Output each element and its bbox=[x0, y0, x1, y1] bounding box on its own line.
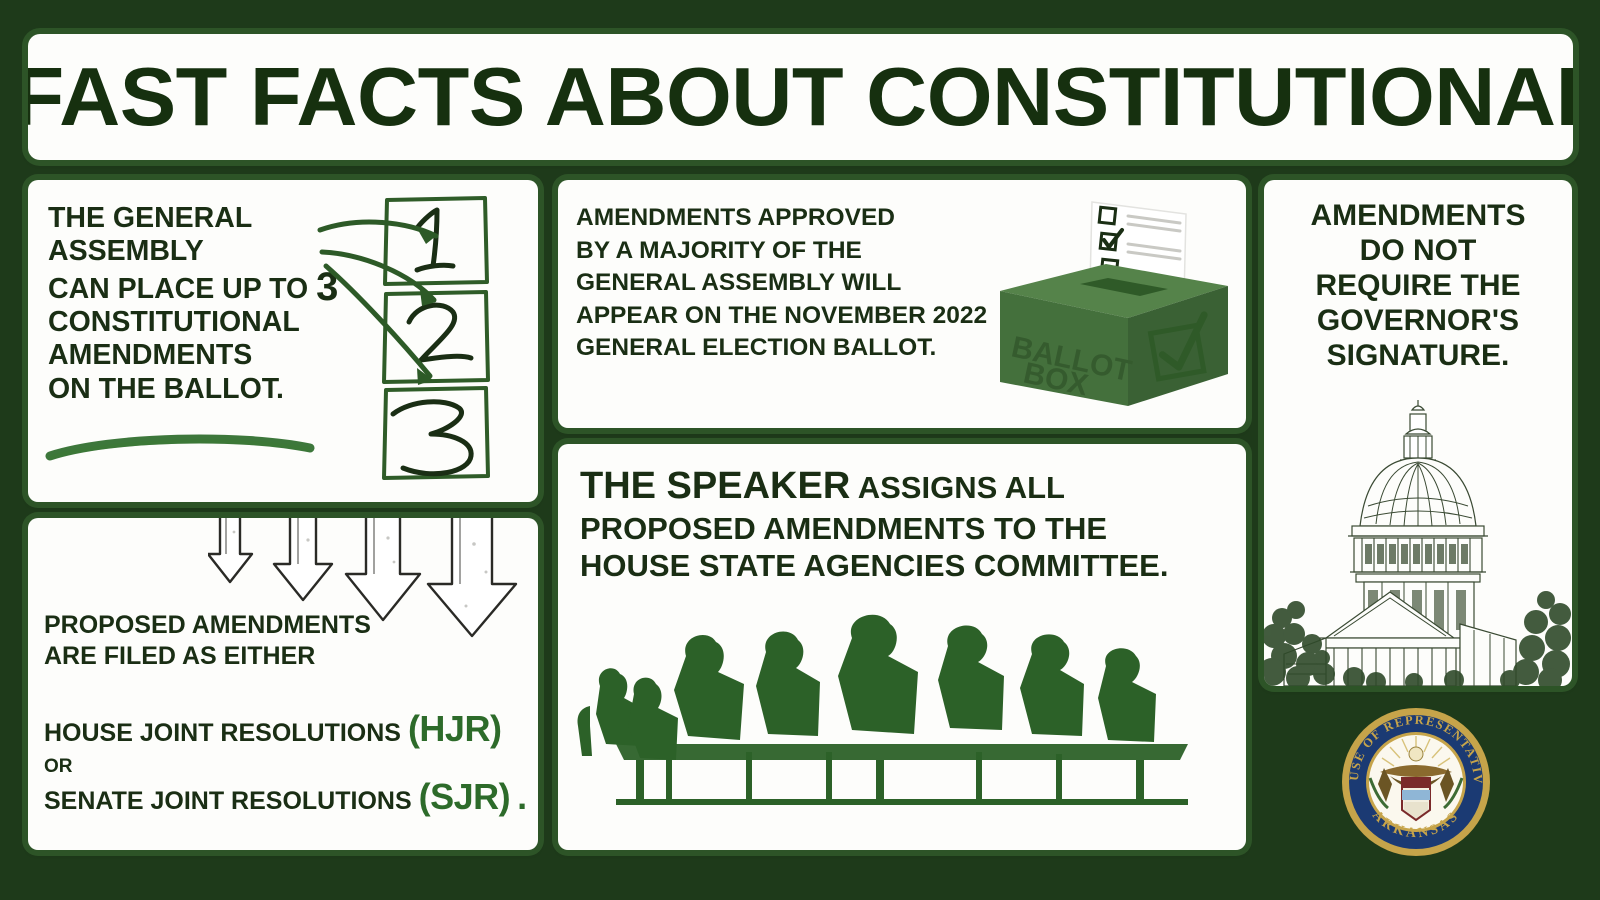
ballot-line-5: GENERAL ELECTION BALLOT. bbox=[576, 332, 1026, 365]
ballot-line-3: GENERAL ASSEMBLY WILL bbox=[576, 267, 1026, 300]
speaker-text-block: THE SPEAKER ASSIGNS ALL PROPOSED AMENDME… bbox=[580, 464, 1230, 584]
ballot-line-1: AMENDMENTS APPROVED bbox=[576, 202, 1026, 235]
speaker-line-1: THE SPEAKER ASSIGNS ALL bbox=[580, 464, 1230, 510]
underline-brush-stroke bbox=[42, 430, 317, 466]
filed-line-1: PROPOSED AMENDMENTS bbox=[44, 610, 424, 641]
panel-governor-signature: AMENDMENTS DO NOT REQUIRE THE GOVERNOR'S… bbox=[1264, 180, 1572, 686]
conference-table bbox=[616, 744, 1188, 805]
filed-hjr-line: HOUSE JOINT RESOLUTIONS (HJR) OR bbox=[44, 708, 534, 779]
filed-hjr-text: HOUSE JOINT RESOLUTIONS bbox=[44, 719, 401, 747]
filed-line-2: ARE FILED AS EITHER bbox=[44, 641, 424, 672]
filed-sjr-acronym: (SJR) bbox=[419, 776, 511, 817]
committee-silhouette-illustration bbox=[576, 594, 1226, 844]
governor-line-1: AMENDMENTS bbox=[1270, 198, 1566, 233]
governor-line-5: SIGNATURE. bbox=[1270, 338, 1566, 373]
page-title: FAST FACTS ABOUT CONSTITUTIONAL AMENDMEN… bbox=[28, 49, 1573, 145]
governor-text-block: AMENDMENTS DO NOT REQUIRE THE GOVERNOR'S… bbox=[1270, 198, 1566, 373]
assembly-line-2-text: CAN PLACE UP TO bbox=[48, 273, 308, 305]
filed-text-block: PROPOSED AMENDMENTS ARE FILED AS EITHER bbox=[44, 610, 424, 673]
speaker-line-1-rest: ASSIGNS ALL bbox=[850, 470, 1065, 505]
title-card: FAST FACTS ABOUT CONSTITUTIONAL AMENDMEN… bbox=[28, 34, 1573, 160]
seated-people bbox=[578, 615, 1157, 760]
panel-filed-resolutions: PROPOSED AMENDMENTS ARE FILED AS EITHER … bbox=[28, 518, 538, 850]
panel-general-assembly: THE GENERAL ASSEMBLY CAN PLACE UP TO 3 C… bbox=[28, 180, 538, 502]
speaker-line-2: PROPOSED AMENDMENTS TO THE bbox=[580, 510, 1230, 547]
filed-sjr-line: SENATE JOINT RESOLUTIONS (SJR) . bbox=[44, 776, 534, 818]
infographic-root: FAST FACTS ABOUT CONSTITUTIONAL AMENDMEN… bbox=[0, 0, 1600, 900]
capitol-dome-illustration bbox=[1264, 386, 1572, 686]
ballot-line-2: BY A MAJORITY OF THE bbox=[576, 235, 1026, 268]
governor-line-2: DO NOT bbox=[1270, 233, 1566, 268]
arkansas-house-seal: HOUSE OF REPRESENTATIVES ARKANSAS bbox=[1340, 706, 1492, 858]
curved-arrows-group bbox=[310, 208, 470, 418]
ballot-text-block: AMENDMENTS APPROVED BY A MAJORITY OF THE… bbox=[576, 202, 1026, 365]
governor-line-4: GOVERNOR'S bbox=[1270, 303, 1566, 338]
panel-ballot-approval: AMENDMENTS APPROVED BY A MAJORITY OF THE… bbox=[558, 180, 1246, 428]
filed-or-word: OR bbox=[44, 756, 73, 777]
governor-line-3: REQUIRE THE bbox=[1270, 268, 1566, 303]
ballot-line-4: APPEAR ON THE NOVEMBER 2022 bbox=[576, 300, 1026, 333]
filed-hjr-acronym: (HJR) bbox=[408, 708, 502, 749]
ballot-box-illustration: BALLOT BOX bbox=[988, 186, 1238, 421]
filed-sjr-text: SENATE JOINT RESOLUTIONS bbox=[44, 787, 412, 815]
panel-speaker-committee: THE SPEAKER ASSIGNS ALL PROPOSED AMENDME… bbox=[558, 444, 1246, 850]
filed-sjr-period: . bbox=[517, 776, 527, 817]
speaker-emphasis: THE SPEAKER bbox=[580, 465, 850, 507]
speaker-line-3: HOUSE STATE AGENCIES COMMITTEE. bbox=[580, 547, 1230, 584]
